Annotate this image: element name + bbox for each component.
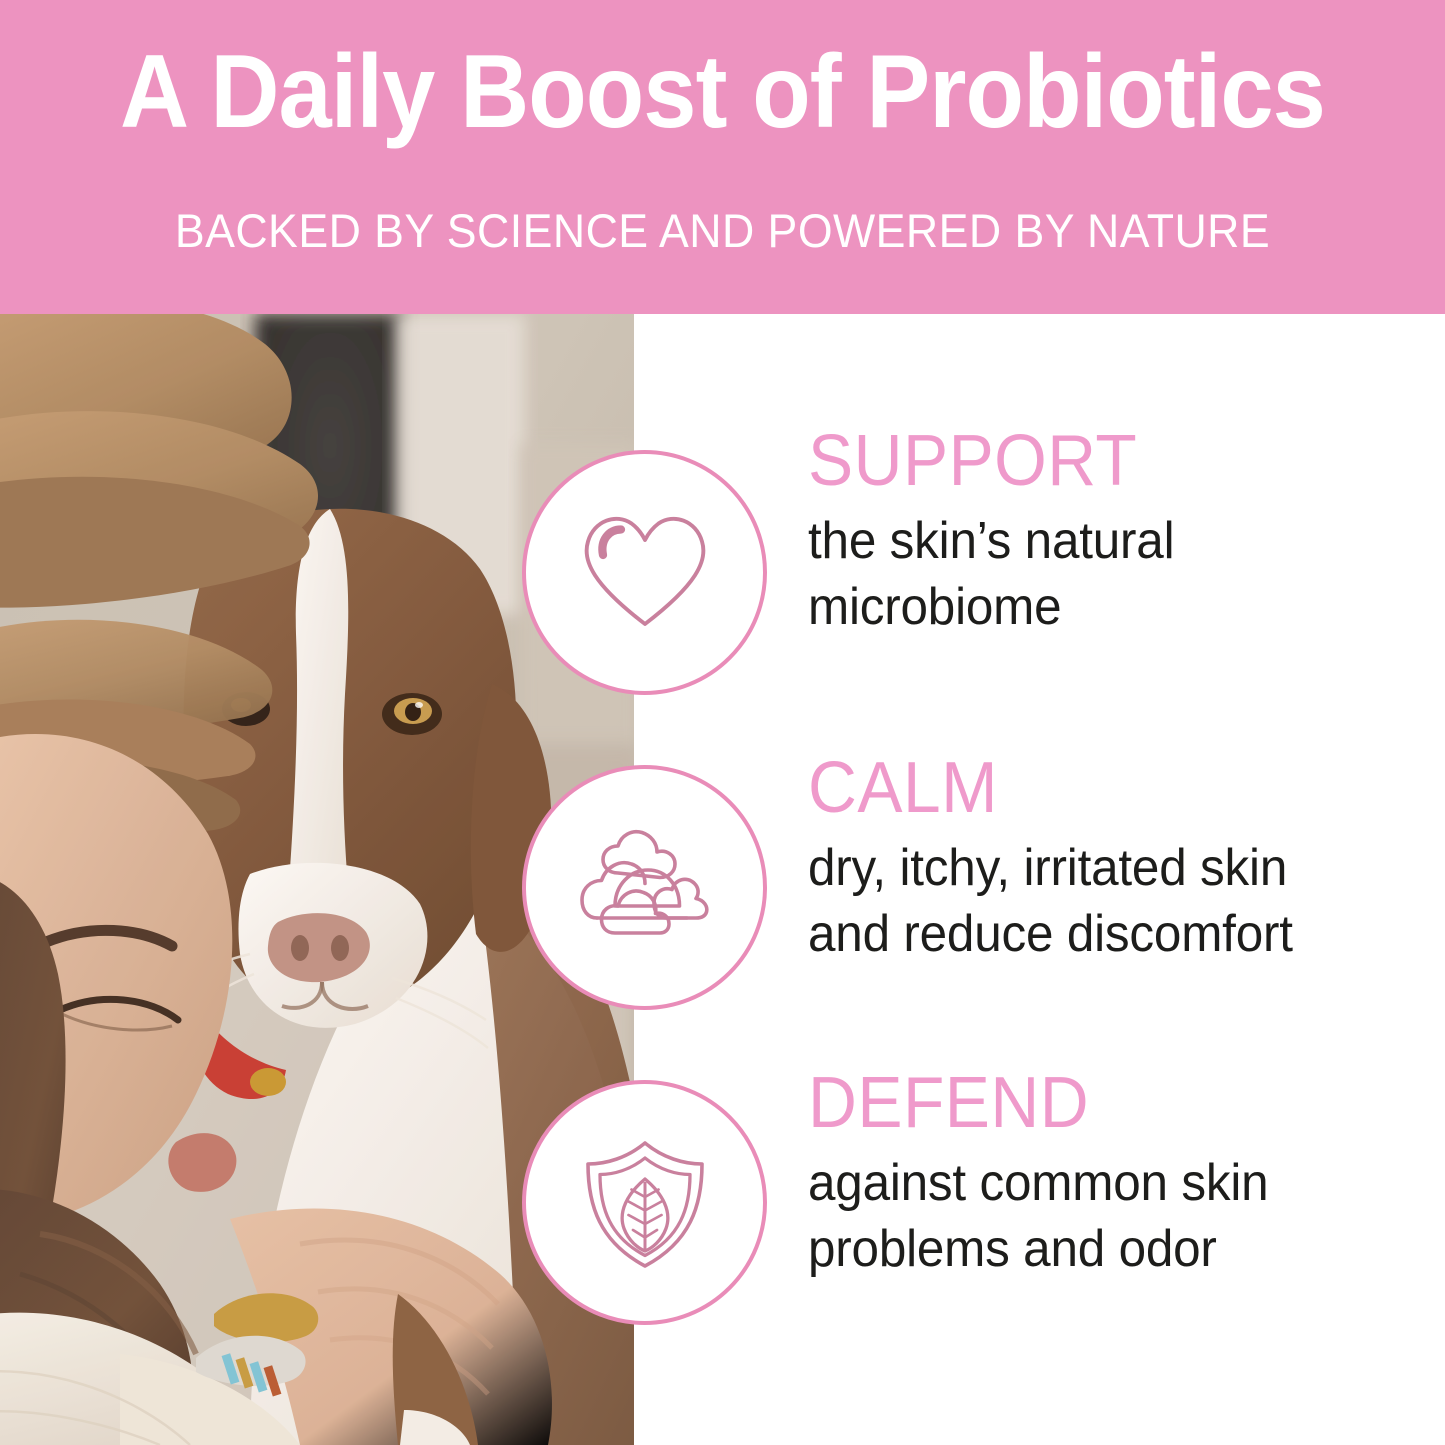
feature-description-line: and reduce discomfort bbox=[808, 901, 1397, 967]
feature-description-line: dry, itchy, irritated skin bbox=[808, 835, 1397, 901]
feature-description-line: problems and odor bbox=[808, 1216, 1397, 1282]
feature-icon-badge-defend bbox=[522, 1080, 767, 1325]
page-title: A Daily Boost of Probiotics bbox=[58, 40, 1387, 144]
feature-icon-badge-calm bbox=[522, 765, 767, 1010]
feature-description-line: microbiome bbox=[808, 574, 1397, 640]
header-banner: A Daily Boost of Probiotics BACKED BY SC… bbox=[0, 0, 1445, 314]
shield-leaf-icon bbox=[570, 1128, 720, 1278]
feature-heading: CALM bbox=[808, 751, 998, 825]
feature-heading: DEFEND bbox=[808, 1066, 1089, 1140]
feature-description-line: against common skin bbox=[808, 1150, 1397, 1216]
infographic-canvas: A Daily Boost of Probiotics BACKED BY SC… bbox=[0, 0, 1445, 1445]
feature-heading: SUPPORT bbox=[808, 424, 1137, 498]
clouds-icon bbox=[570, 813, 720, 963]
page-subtitle: BACKED BY SCIENCE AND POWERED BY NATURE bbox=[36, 205, 1409, 257]
feature-description: against common skin problems and odor bbox=[808, 1150, 1397, 1282]
feature-description: dry, itchy, irritated skin and reduce di… bbox=[808, 835, 1397, 967]
feature-icon-badge-support bbox=[522, 450, 767, 695]
feature-description: the skin’s natural microbiome bbox=[808, 508, 1397, 640]
feature-description-line: the skin’s natural bbox=[808, 508, 1397, 574]
heart-icon bbox=[570, 498, 720, 648]
